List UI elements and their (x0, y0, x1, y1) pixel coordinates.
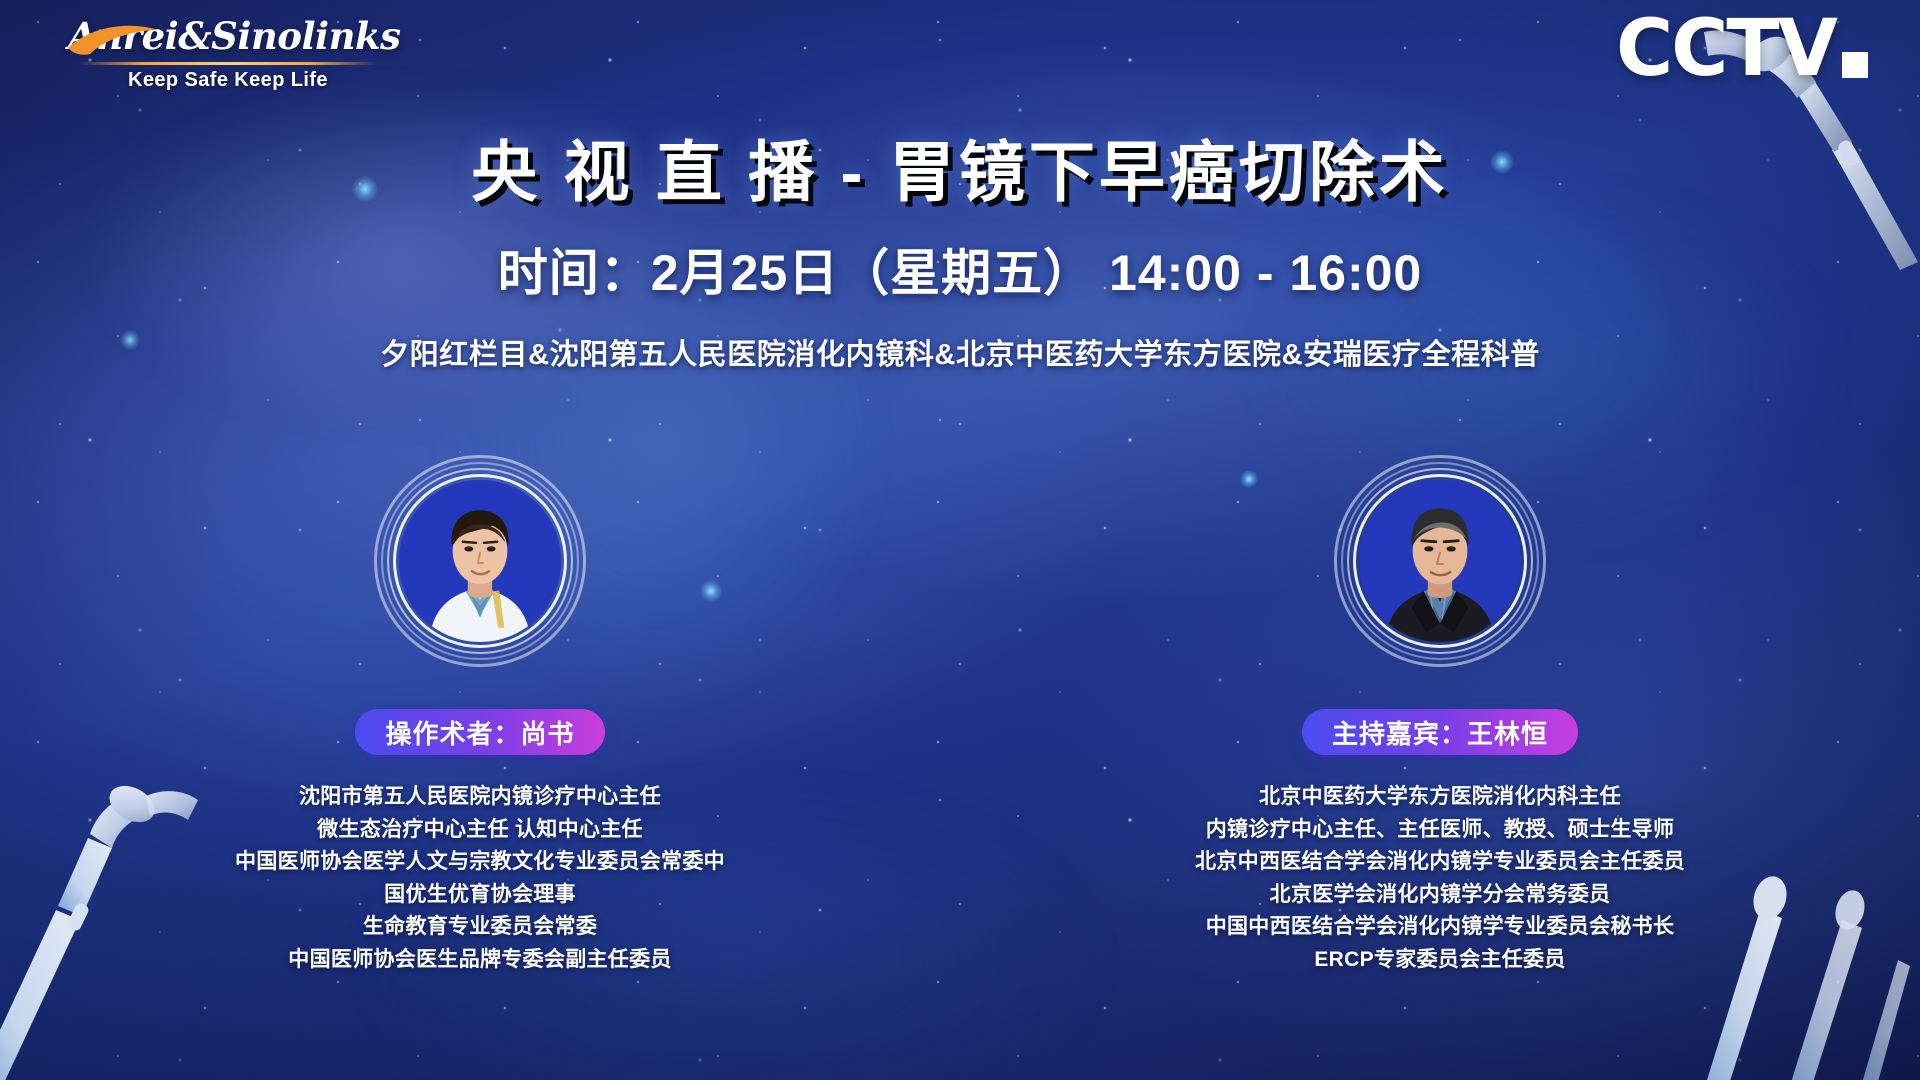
list-item: 中国医师协会医学人文与宗教文化专业委员会常委中 (235, 846, 725, 879)
brand-logo: Anrei&Sinolinks Keep Safe Keep Life (68, 18, 388, 92)
credentials-list-host: 北京中医药大学东方医院消化内科主任 内镜诊疗中心主任、主任医师、教授、硕士生导师… (1195, 781, 1685, 976)
speaker-photo-host (1359, 480, 1521, 642)
avatar (1334, 455, 1546, 667)
headline-block: 央 视 直 播 - 胃镜下早癌切除术 时间：2月25日（星期五） 14:00 -… (0, 136, 1920, 373)
list-item: 沈阳市第五人民医院内镜诊疗中心主任 (235, 781, 725, 814)
list-item: 北京中西医结合学会消化内镜学专业委员会主任委员 (1195, 846, 1685, 879)
organizers-line: 夕阳红栏目&沈阳第五人民医院消化内镜科&北京中医药大学东方医院&安瑞医疗全程科普 (0, 331, 1920, 373)
list-item: 中国中西医结合学会消化内镜学专业委员会秘书长 (1195, 911, 1685, 944)
cctv-wordmark-text: CCTV (1616, 14, 1836, 84)
credentials-list-operator: 沈阳市第五人民医院内镜诊疗中心主任 微生态治疗中心主任 认知中心主任 中国医师协… (235, 781, 725, 976)
speaker-card-host: 主持嘉宾：王林恒 北京中医药大学东方医院消化内科主任 内镜诊疗中心主任、主任医师… (960, 455, 1920, 976)
page-title: 央 视 直 播 - 胃镜下早癌切除术 (0, 136, 1920, 209)
poster-canvas: Anrei&Sinolinks Keep Safe Keep Life CCTV… (0, 0, 1920, 1080)
list-item: 生命教育专业委员会常委 (235, 911, 725, 944)
list-item: ERCP专家委员会主任委员 (1195, 944, 1685, 977)
status-badge: 操作术者：尚书 (355, 709, 605, 755)
avatar (374, 455, 586, 667)
brand-tagline-text: Keep Safe Keep Life (68, 69, 388, 92)
list-item: 内镜诊疗中心主任、主任医师、教授、硕士生导师 (1195, 814, 1685, 847)
speaker-card-operator: 操作术者：尚书 沈阳市第五人民医院内镜诊疗中心主任 微生态治疗中心主任 认知中心… (0, 455, 960, 976)
brand-divider (78, 62, 378, 65)
event-time-line: 时间：2月25日（星期五） 14:00 - 16:00 (0, 233, 1920, 305)
speaker-photo-operator (399, 480, 561, 642)
list-item: 北京医学会消化内镜学分会常务委员 (1195, 879, 1685, 912)
brand-wordmark-text: Anrei&Sinolinks (68, 18, 388, 55)
list-item: 中国医师协会医生品牌专委会副主任委员 (235, 944, 725, 977)
list-item: 国优生优育协会理事 (235, 879, 725, 912)
list-item: 微生态治疗中心主任 认知中心主任 (235, 814, 725, 847)
cctv-square-dot-icon (1842, 52, 1868, 78)
status-badge: 主持嘉宾：王林恒 (1302, 709, 1578, 755)
list-item: 北京中医药大学东方医院消化内科主任 (1195, 781, 1685, 814)
speakers-section: 操作术者：尚书 沈阳市第五人民医院内镜诊疗中心主任 微生态治疗中心主任 认知中心… (0, 455, 1920, 976)
cctv-logo: CCTV (1616, 14, 1868, 84)
